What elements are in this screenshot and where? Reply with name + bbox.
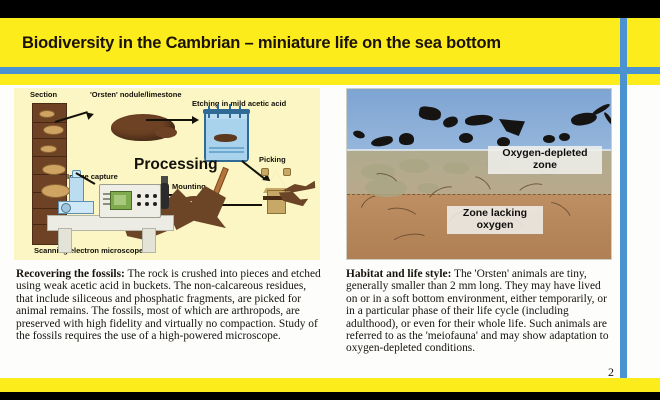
caption-right-lead: Habitat and life style: xyxy=(346,268,451,280)
label-zone-lacking-oxygen: Zone lacking oxygen xyxy=(447,206,543,234)
vertical-blue-rule xyxy=(620,18,627,382)
zone-lacking-line1: Zone lacking xyxy=(463,207,527,219)
header-blue-rule xyxy=(0,67,660,74)
processing-heading: Processing xyxy=(134,156,218,174)
picking-knob-icon xyxy=(283,168,291,176)
beaker-wire-icon xyxy=(208,106,210,118)
arrow-nodule-to-beaker xyxy=(146,119,194,121)
meiofauna-creature xyxy=(559,133,570,141)
acid-beaker-icon xyxy=(204,113,249,162)
caption-right: Habitat and life style: The 'Orsten' ani… xyxy=(346,268,614,355)
sediment-blob xyxy=(443,162,469,174)
beaker-wire-icon xyxy=(217,104,219,118)
arrowhead-icon xyxy=(192,116,199,124)
arrowhead-icon xyxy=(86,110,95,120)
sem-column-icon xyxy=(160,183,169,209)
sem-stage-chamber-icon xyxy=(61,203,71,213)
sem-console-icon xyxy=(99,184,161,218)
meiofauna-creature xyxy=(399,133,414,145)
nodule-speck-icon xyxy=(40,145,57,153)
beaker-wire-icon xyxy=(229,104,231,118)
slide-root: Biodiversity in the Cambrian – miniature… xyxy=(0,0,660,400)
oxygen-depleted-line1: Oxygen-depleted xyxy=(502,147,587,159)
meiofauna-creature xyxy=(459,133,473,143)
caption-left-lead: Recovering the fossils: xyxy=(16,268,125,280)
footer-band xyxy=(0,378,660,392)
sem-bench-leg xyxy=(58,228,72,253)
nodule-speck-icon xyxy=(41,184,70,198)
label-section: Section xyxy=(30,90,57,99)
meiofauna-creature xyxy=(543,135,555,143)
zone-lacking-line2: oxygen xyxy=(477,219,514,231)
image-capture-camera-icon xyxy=(69,177,84,204)
caption-right-body: The 'Orsten' animals are tiny, generally… xyxy=(346,268,609,354)
picking-knob-icon xyxy=(261,168,269,176)
label-microscope: Scanning electron microscope xyxy=(34,246,143,255)
oxygen-depleted-line2: zone xyxy=(533,159,557,171)
label-nodule: 'Orsten' nodule/limestone xyxy=(90,90,182,99)
label-picking: Picking xyxy=(259,155,286,164)
caption-left: Recovering the fossils: The rock is crus… xyxy=(16,268,322,342)
habitat-illustration: Oxygen-depleted zone Zone lacking oxygen xyxy=(346,88,612,260)
slide-title: Biodiversity in the Cambrian – miniature… xyxy=(22,26,602,60)
beaker-wire-icon xyxy=(239,106,241,118)
nodule-speck-icon xyxy=(43,125,64,135)
header-band-lower xyxy=(0,74,660,85)
sem-bench-leg xyxy=(142,228,156,253)
label-oxygen-depleted-zone: Oxygen-depleted zone xyxy=(488,146,602,174)
nodule-speck-icon xyxy=(42,164,66,175)
processing-diagram: Section 'Orsten' nodule/limestone Etchin… xyxy=(14,88,320,260)
sediment-blob xyxy=(399,159,429,173)
nodule-speck-icon xyxy=(39,110,55,118)
